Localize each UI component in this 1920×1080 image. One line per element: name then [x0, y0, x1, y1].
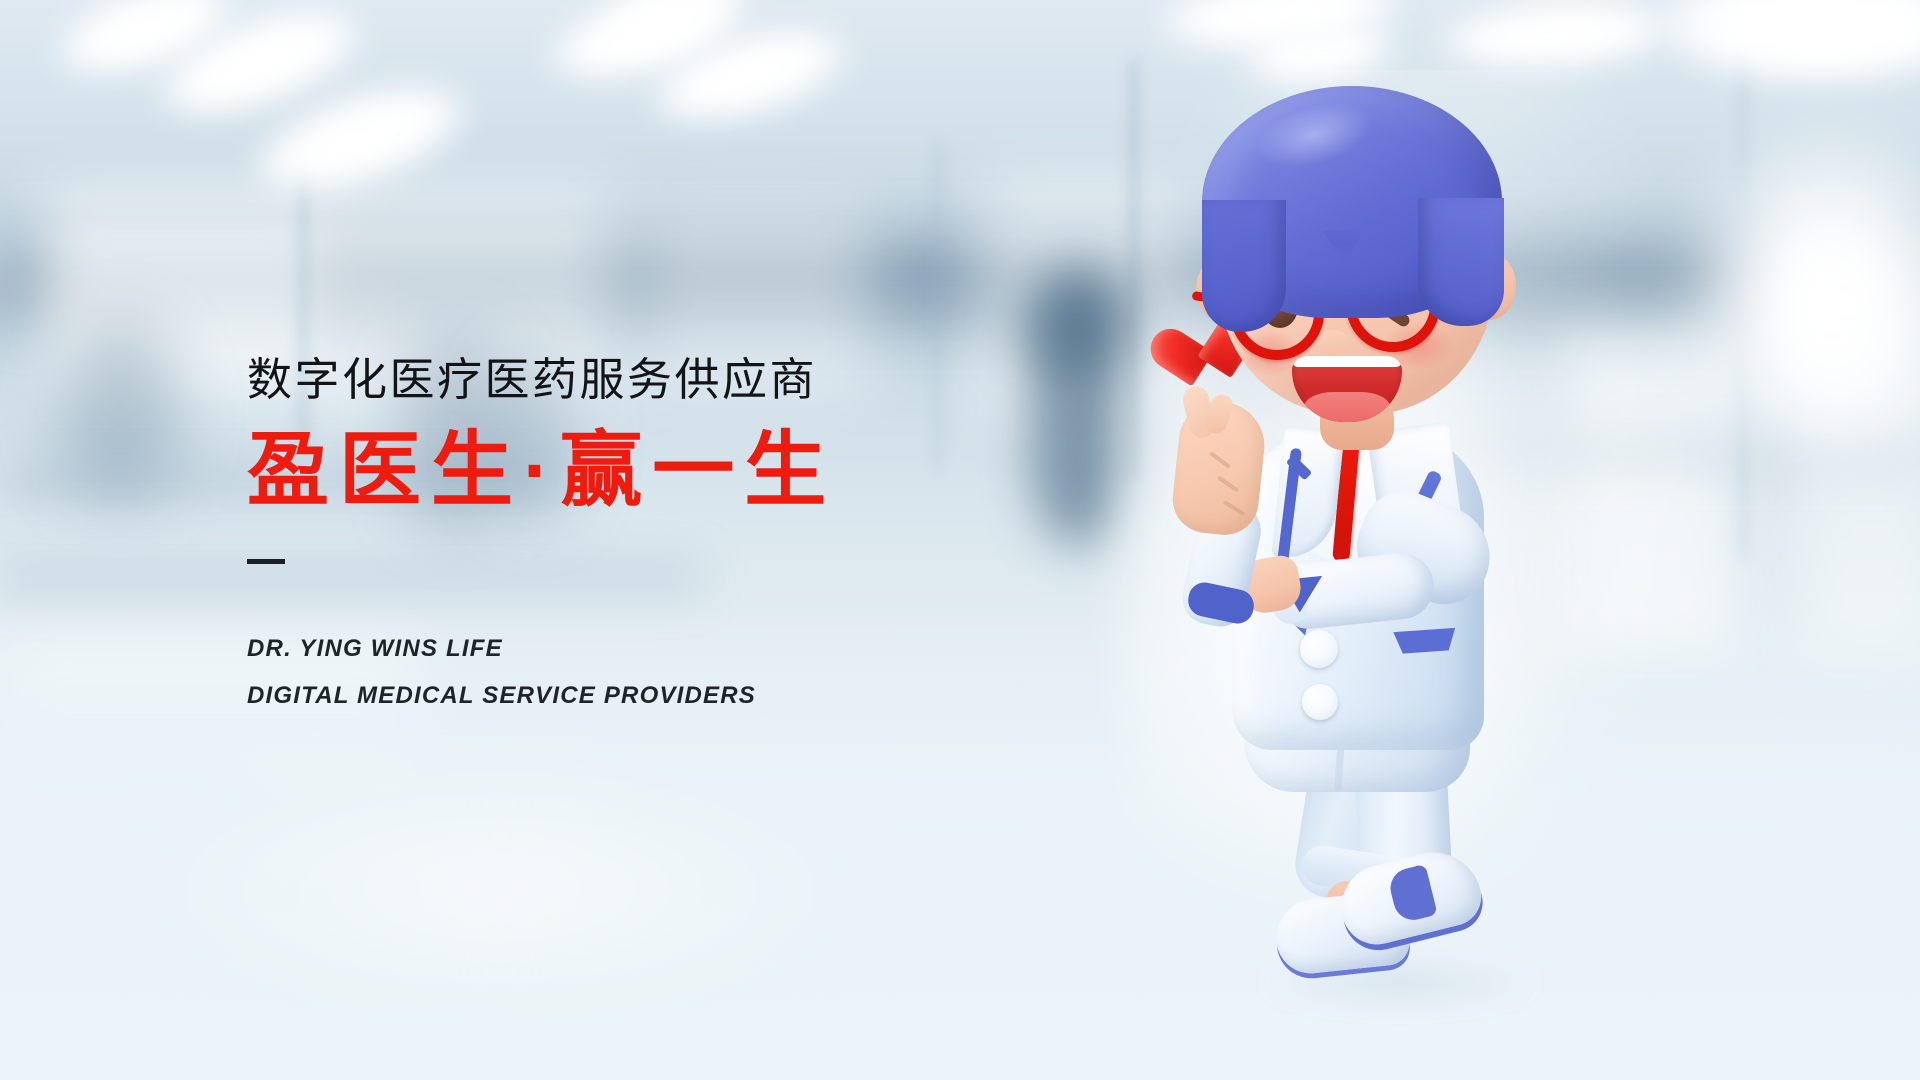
- doctor-mascot: [1180, 30, 1640, 1050]
- subtitle-line-1: DR. YING WINS LIFE: [247, 626, 1027, 673]
- mascot-hair-side-right: [1418, 198, 1504, 326]
- mascot-tongue: [1304, 392, 1390, 422]
- subtitle-english: DR. YING WINS LIFE DIGITAL MEDICAL SERVI…: [247, 626, 1027, 720]
- mascot-mouth: [1292, 356, 1402, 422]
- mascot-coat-button: [1300, 630, 1338, 668]
- banner-stage: 数字化医疗医药服务供应商 盈医生·赢一生 DR. YING WINS LIFE …: [0, 0, 1920, 1080]
- window-glow: [1700, 150, 1920, 450]
- mascot-pocket-flap: [1393, 628, 1456, 654]
- page-title: 数字化医疗医药服务供应商: [247, 355, 1027, 405]
- slogan: 盈医生·赢一生: [247, 427, 1027, 516]
- divider: [247, 559, 285, 564]
- mascot-hair-side-left: [1202, 200, 1286, 332]
- subtitle-line-2: DIGITAL MEDICAL SERVICE PROVIDERS: [247, 673, 1027, 720]
- banner-copy: 数字化医疗医药服务供应商 盈医生·赢一生 DR. YING WINS LIFE …: [247, 355, 1027, 720]
- mascot-coat-button: [1302, 684, 1338, 720]
- floor-reflection: [120, 760, 880, 1020]
